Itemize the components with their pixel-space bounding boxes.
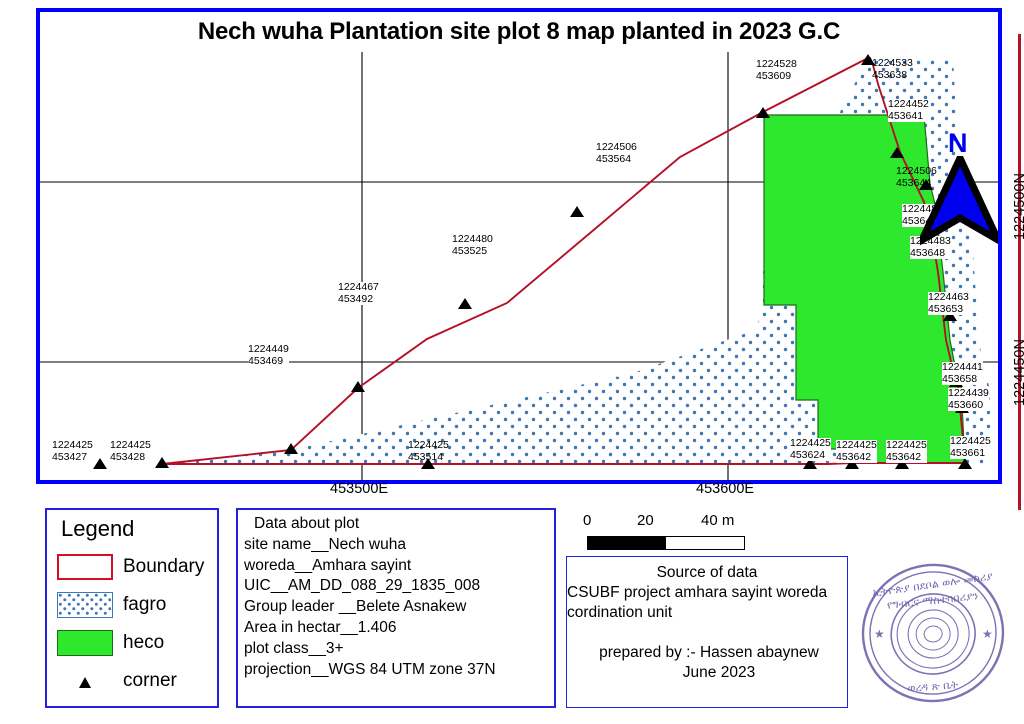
north-arrow-glyph xyxy=(922,158,998,240)
corner-label: 1224425 453427 xyxy=(52,440,93,463)
legend-item-label: corner xyxy=(123,670,177,692)
plot-data-row: projection__WGS 84 UTM zone 37N xyxy=(244,660,554,681)
x-axis-tick-label: 453500E xyxy=(330,481,388,497)
corner-swatch xyxy=(57,668,113,694)
corner-label: 1224425 453624 xyxy=(790,438,831,461)
y-axis-tick-label: 1224450N xyxy=(1012,339,1024,406)
corner-label: 1224480 453525 xyxy=(452,234,493,257)
legend-item-corner[interactable]: corner xyxy=(57,668,177,694)
corner-label: 1224425 453428 xyxy=(110,440,151,463)
corner-label: 1224425 453642 xyxy=(886,440,927,463)
source-line: prepared by :- Hassen abaynew xyxy=(567,643,847,663)
scale-tick-label: 40 m xyxy=(701,512,734,529)
map-frame: 1224425 453427 1224425 453428 1224449 45… xyxy=(36,52,1002,484)
legend-item-boundary[interactable]: Boundary xyxy=(57,554,204,580)
plot-data-heading: Data about plot xyxy=(244,514,554,535)
north-arrow: N xyxy=(920,130,998,242)
plot-data-row: Group leader __Belete Asnakew xyxy=(244,597,554,618)
scale-bar-segment-filled xyxy=(588,537,666,549)
corner-label: 1224463 453653 xyxy=(928,292,969,315)
source-line: Source of data xyxy=(567,557,847,583)
corner-label: 1224533 453638 xyxy=(872,58,913,81)
scale-tick-label: 20 xyxy=(637,512,654,529)
source-panel: Source of data CSUBF project amhara sayi… xyxy=(566,556,848,708)
svg-text:★: ★ xyxy=(874,627,885,641)
map-title-frame: Nech wuha Plantation site plot 8 map pla… xyxy=(36,8,1002,56)
north-arrow-label: N xyxy=(948,128,968,159)
official-stamp: ኢትዮጵያ በደቦል ወሎ መስሪያ የግብርና ማስተባበሪያን ወረዳ ጽ … xyxy=(858,558,1008,708)
corner-label: 1224439 453660 xyxy=(948,388,989,411)
legend-title: Legend xyxy=(61,516,134,542)
source-line: June 2023 xyxy=(567,663,847,683)
scale-bar-segment-empty xyxy=(666,537,744,549)
corner-label: 1224506 453564 xyxy=(596,142,637,165)
corner-label: 1224467 453492 xyxy=(338,282,379,305)
page-title: Nech wuha Plantation site plot 8 map pla… xyxy=(40,12,998,52)
plot-data-row: Area in hectar__1.406 xyxy=(244,618,554,639)
map-canvas[interactable]: 1224425 453427 1224425 453428 1224449 45… xyxy=(40,52,998,480)
svg-text:★: ★ xyxy=(982,627,993,641)
scale-bar xyxy=(587,536,745,550)
source-line xyxy=(567,623,847,643)
y-axis-tick-label: 1224500N xyxy=(1012,173,1024,240)
source-line: cordination unit xyxy=(567,603,847,623)
corner-label: 1224441 453658 xyxy=(942,362,983,385)
heco-swatch xyxy=(57,630,113,656)
corner-label: 1224425 453642 xyxy=(836,440,877,463)
corner-label: 1224425 453661 xyxy=(950,436,991,459)
svg-text:ወረዳ ጽ ቤት: ወረዳ ጽ ቤት xyxy=(907,678,959,695)
legend-item-label: heco xyxy=(123,632,164,654)
corner-label: 1224528 453609 xyxy=(756,59,797,82)
plot-data-row: plot class__3+ xyxy=(244,639,554,660)
x-axis-tick-label: 453600E xyxy=(696,481,754,497)
scale-bar-group: 0 20 40 m xyxy=(575,512,765,558)
legend-item-label: Boundary xyxy=(123,556,204,578)
source-line: CSUBF project amhara sayint woreda xyxy=(567,583,847,603)
boundary-swatch xyxy=(57,554,113,580)
map-right-red-border xyxy=(1018,34,1021,510)
plot-data-row: UIC__AM_DD_088_29_1835_008 xyxy=(244,576,554,597)
legend-item-heco[interactable]: heco xyxy=(57,630,164,656)
corner-label: 1224425 453514 xyxy=(408,440,449,463)
legend-panel: Legend Boundary fagro heco corner xyxy=(45,508,219,708)
legend-item-label: fagro xyxy=(123,594,166,616)
fagro-swatch xyxy=(57,592,113,618)
plot-data-row: woreda__Amhara sayint xyxy=(244,556,554,577)
plot-data-row: site name__Nech wuha xyxy=(244,535,554,556)
legend-item-fagro[interactable]: fagro xyxy=(57,592,166,618)
corner-label: 1224449 453469 xyxy=(248,344,289,367)
corner-label: 1224452 453641 xyxy=(888,99,929,122)
scale-tick-label: 0 xyxy=(583,512,591,529)
plot-data-panel: Data about plot site name__Nech wuha wor… xyxy=(236,508,556,708)
